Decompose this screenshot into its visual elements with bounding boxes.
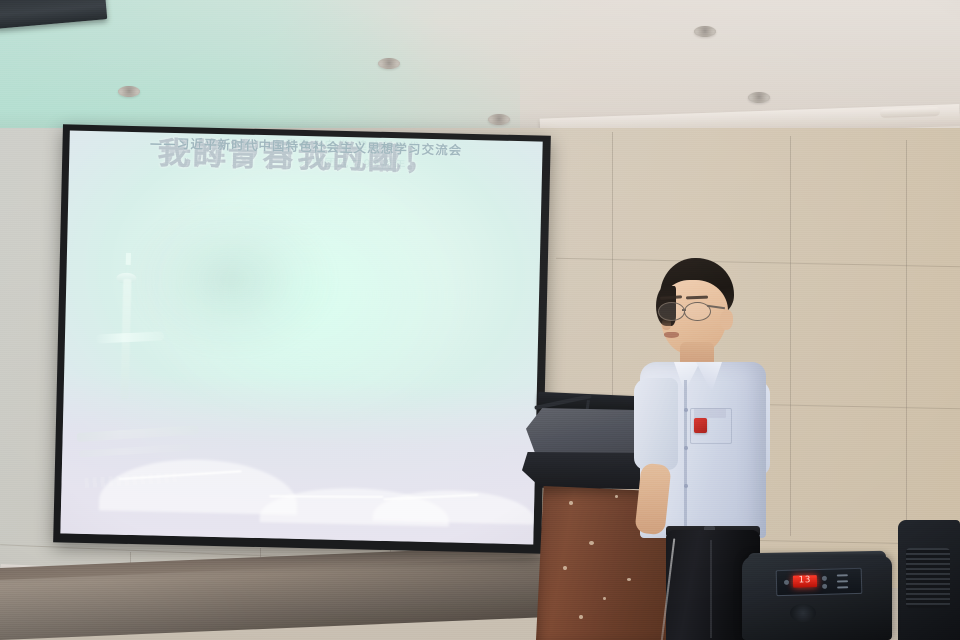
speaker-grill-right [906,548,950,608]
podium-speck [603,597,606,600]
podium-speck [615,495,618,498]
podium-speck [563,566,567,570]
projection-screen: 光辉岁月九九载， 我的青春我的团！ ——习近平新时代中国特色社会主义思想学习交流… [53,124,551,553]
podium-speck [589,541,594,545]
wall-seam [790,136,791,536]
ceiling-downlight [378,58,400,69]
amplifier-knob[interactable] [822,576,827,581]
ear [720,310,733,330]
podium-speck [627,578,631,581]
shirt-button [684,408,688,412]
shirt-button [684,484,688,488]
amplifier-slider[interactable] [837,586,848,588]
red-badge-pin [694,418,707,433]
podium-speck [579,615,583,619]
wall-seam [906,140,907,520]
amplifier-speaker-grill [790,604,816,622]
shirt-placket [684,380,687,530]
ceiling-downlight [748,92,770,103]
amplifier-knob[interactable] [822,584,827,589]
amplifier-slider[interactable] [837,580,848,582]
amplifier-control-panel[interactable]: 13 [776,568,863,596]
screen-vignette [60,130,542,544]
amplifier-slider[interactable] [837,574,848,576]
ceiling-downlight [694,26,716,37]
sleeve-left [634,378,678,470]
ceiling-downlight [118,86,140,97]
amplifier-led-value: 13 [793,574,817,588]
trouser-seam [710,540,712,638]
mouth [664,332,679,338]
screen-surface: 光辉岁月九九载， 我的青春我的团！ ——习近平新时代中国特色社会主义思想学习交流… [60,130,542,544]
nose [662,318,671,330]
shirt-button [684,446,688,450]
badge-text-strip [694,408,726,418]
amplifier-knob[interactable] [784,580,789,585]
presentation-photo-scene: 光辉岁月九九载， 我的青春我的团！ ——习近平新时代中国特色社会主义思想学习交流… [0,0,960,640]
eyeglass-bridge [682,309,686,311]
podium-speck [569,501,573,505]
eyeglass-lens-left [658,302,685,321]
